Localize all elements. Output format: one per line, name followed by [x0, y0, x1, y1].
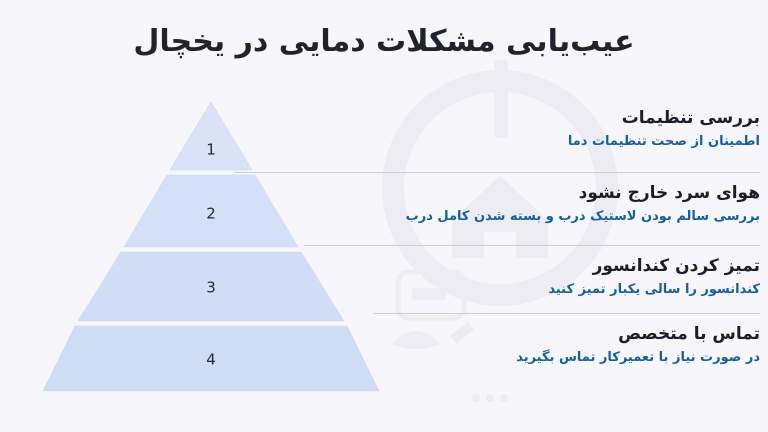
item-3-subtitle: کندانسور را سالی یکبار تمیز کنید: [548, 282, 760, 299]
item-row-2[interactable]: هوای سرد خارج نشود بررسی سالم بودن لاستی…: [406, 183, 760, 226]
item-3-heading: تمیز کردن کندانسور: [548, 256, 760, 277]
pyramid-level-1-number: 1: [206, 141, 216, 159]
page-title: عیب‌یابی مشکلات دمایی در یخچال: [0, 24, 768, 59]
item-1-subtitle: اطمینان از صحت تنظیمات دما: [568, 134, 760, 151]
pyramid-level-4[interactable]: 4: [43, 326, 379, 391]
pyramid-level-2-number: 2: [206, 205, 216, 223]
pyramid-chart: 1 2 3 4: [30, 92, 394, 398]
item-2-heading: هوای سرد خارج نشود: [406, 183, 760, 204]
row-separator-3: [374, 313, 760, 314]
pyramid-level-4-number: 4: [206, 351, 216, 369]
item-4-heading: تماس با متخصص: [516, 324, 760, 345]
item-1-heading: بررسی تنظیمات: [568, 108, 760, 129]
item-row-4[interactable]: تماس با متخصص در صورت نیاز با تعمیرکار ت…: [516, 324, 760, 367]
pyramid-level-3[interactable]: 3: [78, 252, 344, 321]
pyramid-level-3-number: 3: [206, 279, 216, 297]
pyramid-level-2[interactable]: 2: [124, 175, 298, 247]
item-4-subtitle: در صورت نیاز با تعمیرکار تماس بگیرید: [516, 350, 760, 367]
item-2-subtitle: بررسی سالم بودن لاستیک درب و بسته شدن کا…: [406, 209, 760, 226]
item-row-1[interactable]: بررسی تنظیمات اطمینان از صحت تنظیمات دما: [568, 108, 760, 151]
item-row-3[interactable]: تمیز کردن کندانسور کندانسور را سالی یکبا…: [548, 256, 760, 299]
pyramid-level-1[interactable]: 1: [170, 102, 252, 170]
infographic-canvas: عیب‌یابی مشکلات دمایی در یخچال 1 2 3 4 ب…: [0, 0, 768, 432]
